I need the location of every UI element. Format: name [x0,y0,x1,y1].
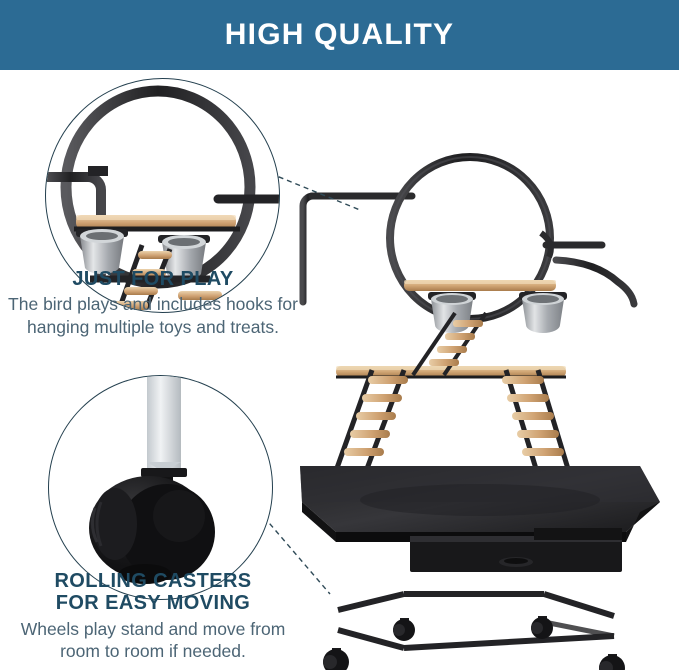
caption-heading-just-for-play: JUST FOR PLAY [8,268,298,290]
caption-body-just-for-play: The bird plays and includes hooks for ha… [8,293,298,338]
caption-body-rolling-casters: Wheels play stand and move from room to … [8,618,298,663]
caster-detail-illustration [49,376,273,600]
callout-circle-rolling-casters [48,375,273,600]
caption-just-for-play: JUST FOR PLAY The bird plays and include… [8,268,298,338]
header-banner: HIGH QUALITY [0,0,679,70]
caption-rolling-casters: ROLLING CASTERS FOR EASY MOVING Wheels p… [8,570,298,663]
caption-heading-line2: FOR EASY MOVING [8,592,298,614]
page-title: HIGH QUALITY [225,18,454,52]
caption-heading-line1: ROLLING CASTERS [8,570,298,592]
infographic-stage: JUST FOR PLAY The bird plays and include… [0,70,679,670]
